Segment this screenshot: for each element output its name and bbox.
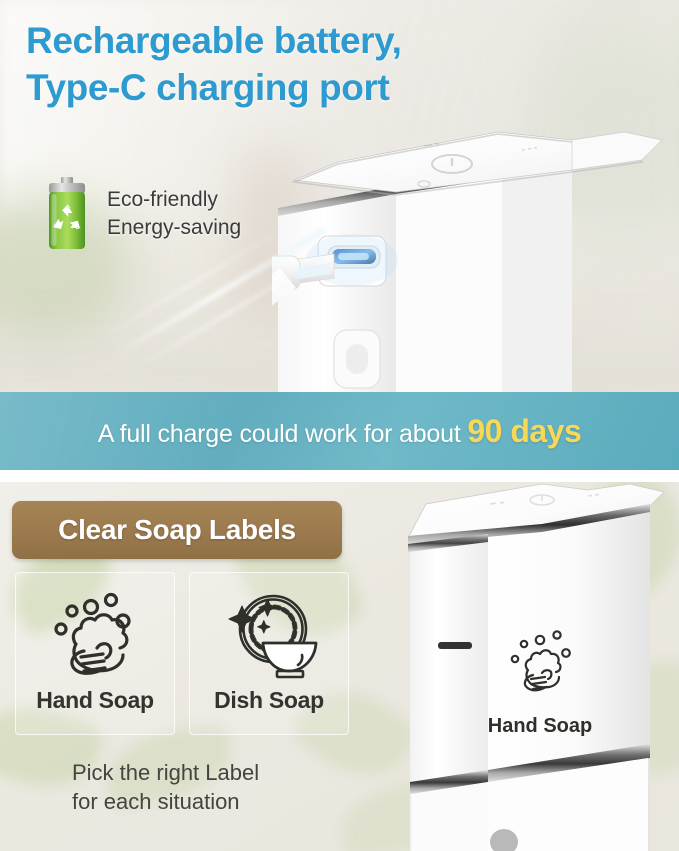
eco-friendly-badge: Eco-friendly Energy-saving bbox=[44, 176, 241, 252]
banner-text: A full charge could work for about 90 da… bbox=[98, 413, 582, 450]
hand-soap-label: Hand Soap bbox=[36, 687, 153, 714]
hand-soap-icon bbox=[43, 585, 147, 685]
clear-soap-labels-section: Clear Soap Labels Hand Soap bbox=[0, 482, 679, 851]
section-divider bbox=[0, 470, 679, 482]
banner-text-prefix: A full charge could work for about bbox=[98, 420, 468, 448]
battery-recycle-icon bbox=[44, 176, 90, 252]
page-title: Rechargeable battery, Type-C charging po… bbox=[26, 18, 546, 111]
clear-soap-labels-header: Clear Soap Labels bbox=[12, 501, 342, 559]
pick-label-caption: Pick the right Label for each situation bbox=[72, 759, 259, 816]
dish-soap-icon bbox=[217, 585, 321, 685]
dish-soap-card[interactable]: Dish Soap bbox=[189, 572, 349, 735]
soap-dispenser-upper bbox=[272, 118, 679, 392]
soap-label-cards: Hand Soap Dish Soap bbox=[15, 572, 349, 735]
hand-soap-card[interactable]: Hand Soap bbox=[15, 572, 175, 735]
rechargeable-battery-section: Rechargeable battery, Type-C charging po… bbox=[0, 0, 679, 392]
banner-highlight-value: 90 days bbox=[467, 413, 581, 449]
clear-soap-labels-title: Clear Soap Labels bbox=[58, 514, 296, 546]
dish-soap-label: Dish Soap bbox=[214, 687, 324, 714]
eco-friendly-label: Eco-friendly Energy-saving bbox=[107, 186, 241, 241]
dispenser-hand-soap-text: Hand Soap bbox=[488, 715, 592, 737]
soap-dispenser-lower: Hand Soap bbox=[392, 482, 679, 851]
charge-duration-banner: A full charge could work for about 90 da… bbox=[0, 392, 679, 470]
